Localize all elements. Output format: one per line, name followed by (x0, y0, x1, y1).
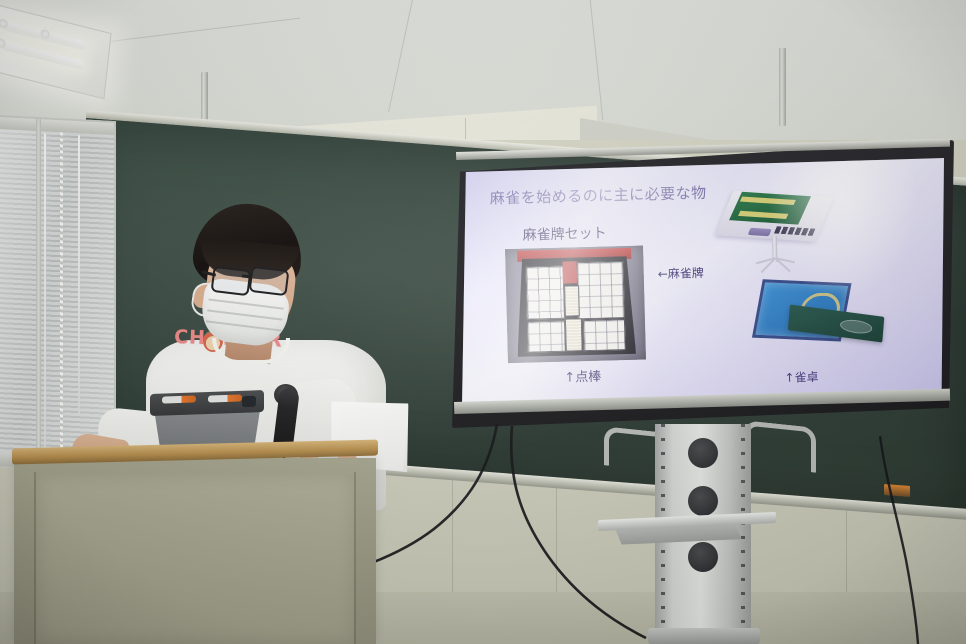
mahjong-mat-and-bag-image (754, 277, 886, 356)
blind-bead-chain[interactable] (60, 132, 63, 462)
stand-cable-hole (688, 486, 718, 516)
mask-pleat (206, 321, 281, 332)
window-with-blinds (0, 115, 116, 473)
blind-pull-cord[interactable] (44, 133, 46, 455)
ceiling-fluorescent-light (0, 5, 112, 100)
blind-light-sheen (0, 129, 114, 471)
stand-cable-hole (688, 542, 718, 572)
stand-mount-arm-right (744, 420, 816, 473)
ceiling-seam (388, 0, 413, 112)
presentation-slide: 麻雀を始めるのに主に必要な物 麻雀牌セット (462, 158, 944, 408)
blind-pull-cord[interactable] (78, 135, 80, 415)
ceiling-seam (590, 0, 604, 120)
flat-panel-display[interactable]: 麻雀を始めるのに主に必要な物 麻雀牌セット (452, 140, 954, 428)
window-mullion (36, 119, 41, 467)
mahjong-set-photo (505, 246, 646, 364)
tile-tray (526, 266, 565, 320)
tile-tray (527, 321, 565, 353)
display-stand-base (648, 628, 760, 644)
stylus-pen[interactable] (208, 394, 242, 402)
tile-tray (577, 261, 626, 319)
slide-title: 麻雀を始めるのに主に必要な物 (489, 182, 706, 209)
tablet-camera-module (242, 396, 256, 407)
display-screen[interactable]: 麻雀を始めるのに主に必要な物 麻雀牌セット (462, 158, 944, 408)
mask-pleat (207, 310, 282, 321)
mahjong-tiles (527, 267, 564, 319)
venetian-blind-slats (0, 129, 114, 471)
case-interior (515, 256, 636, 357)
glasses-right-lens (249, 266, 290, 296)
point-sticks (564, 285, 580, 317)
bag-logo (839, 318, 872, 335)
case-red-liner (563, 261, 578, 283)
mahjong-tiles (528, 322, 564, 352)
mahjong-tiles (578, 262, 625, 318)
tile-tray (583, 319, 626, 352)
slide-label-mahjong-table: ↑雀卓 (784, 368, 818, 386)
table-drawer (748, 228, 772, 236)
stand-perforation-strip (741, 424, 745, 644)
point-sticks (565, 318, 582, 352)
podium-panel-edge (354, 472, 356, 644)
podium-lectern (14, 458, 376, 644)
slide-subtitle: 麻雀牌セット (522, 223, 606, 245)
chalk-tray-item-orange (884, 484, 910, 497)
stand-cable-hole (688, 438, 718, 468)
mask-pleat (208, 299, 283, 310)
classroom-presentation-photo: 麻雀を始めるのに主に必要な物 麻雀牌セット (0, 0, 966, 644)
podium-panel-edge (34, 472, 36, 644)
automatic-mahjong-table-image (718, 187, 832, 286)
ceiling-support-pole (779, 48, 786, 126)
podium-front-panel (36, 474, 354, 644)
slide-label-tiles: ←麻雀牌 (658, 264, 704, 282)
slide-label-point-sticks: ↑点棒 (564, 366, 601, 386)
mahjong-tiles (584, 320, 625, 350)
glasses-left-lens (211, 266, 252, 296)
stylus-pen[interactable] (162, 395, 196, 403)
